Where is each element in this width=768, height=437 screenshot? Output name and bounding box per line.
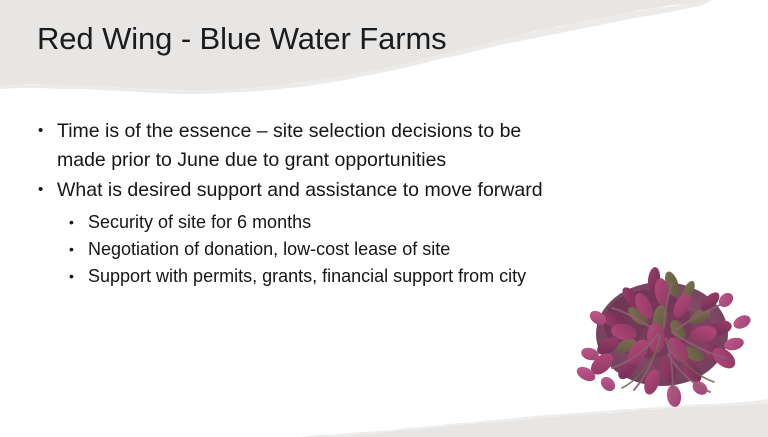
title-block: Red Wing - Blue Water Farms xyxy=(37,19,677,69)
list-item-text: What is desired support and assistance t… xyxy=(57,176,568,205)
list-item: • Support with permits, grants, financia… xyxy=(38,263,568,290)
list-item-text: Time is of the essence – site selection … xyxy=(57,117,568,174)
sub-bullet-list: • Security of site for 6 months • Negoti… xyxy=(38,209,568,290)
slide: Red Wing - Blue Water Farms • Time is of… xyxy=(0,0,768,437)
bullet-marker-icon: • xyxy=(38,117,43,146)
bullet-marker-icon: • xyxy=(69,263,74,290)
bullet-marker-icon: • xyxy=(38,176,43,205)
list-item: • Security of site for 6 months xyxy=(38,209,568,236)
page-title: Red Wing - Blue Water Farms xyxy=(37,19,677,59)
list-item: • What is desired support and assistance… xyxy=(38,176,568,205)
bullet-marker-icon: • xyxy=(69,236,74,263)
microgreens-clump xyxy=(574,266,752,407)
list-item-text: Security of site for 6 months xyxy=(88,209,568,236)
bullet-list: • Time is of the essence – site selectio… xyxy=(38,117,568,290)
list-item-text: Support with permits, grants, financial … xyxy=(88,263,568,290)
bullet-marker-icon: • xyxy=(69,209,74,236)
purple-microgreens-photo xyxy=(568,258,760,418)
list-item: • Time is of the essence – site selectio… xyxy=(38,117,568,174)
list-item-text: Negotiation of donation, low-cost lease … xyxy=(88,236,568,263)
list-item: • Negotiation of donation, low-cost leas… xyxy=(38,236,568,263)
